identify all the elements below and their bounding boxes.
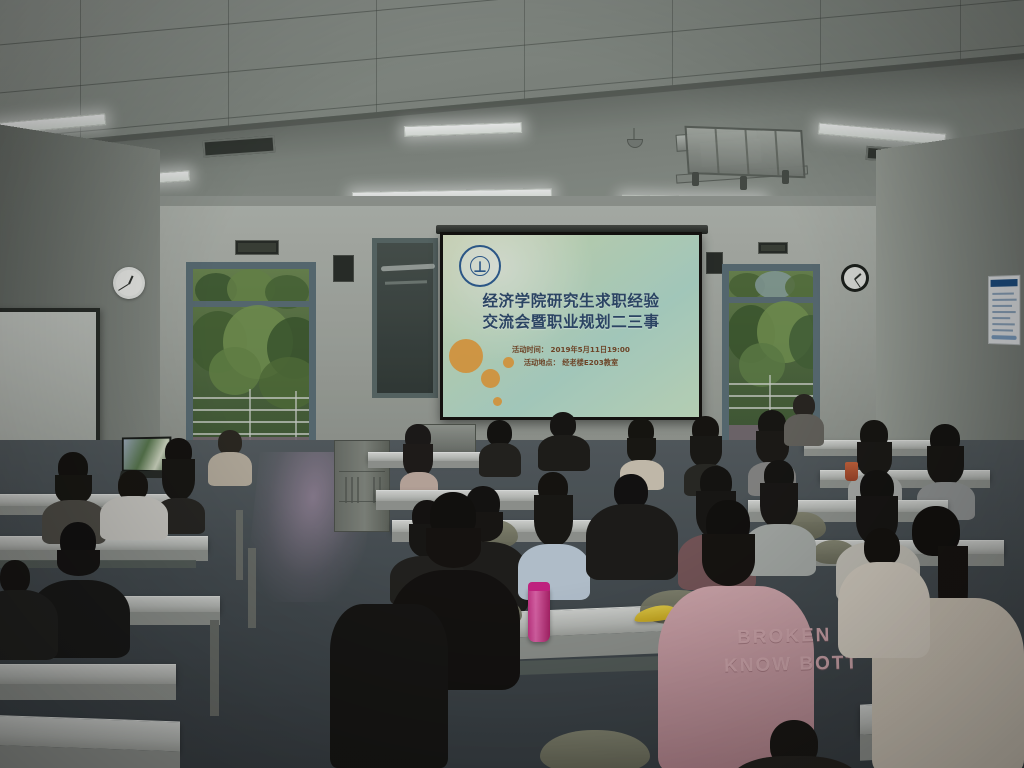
left-doorway <box>186 262 316 470</box>
emergency-exit-sign <box>235 240 279 255</box>
desk-front-left <box>0 715 180 752</box>
wall-trim <box>148 196 892 206</box>
jacket-text-line-1: BROKEN <box>737 625 832 649</box>
back-window-panel <box>372 238 438 398</box>
slide-title-line-1: 经济学院研究生求职经验 <box>443 291 699 312</box>
university-emblem-icon: ⊥ <box>459 245 501 287</box>
projector-mount-foot <box>740 176 747 190</box>
slide-meta: 活动时间： 2019年5月11日19:00 活动地点： 经老楼E203教室 <box>443 343 699 369</box>
classroom-scene: ⊥ 经济学院研究生求职经验 交流会暨职业规划二三事 活动时间： 2019年5月1… <box>0 0 1024 768</box>
projected-slide: ⊥ 经济学院研究生求职经验 交流会暨职业规划二三事 活动时间： 2019年5月1… <box>443 235 699 417</box>
slide-title-line-2: 交流会暨职业规划二三事 <box>443 312 699 333</box>
projector-mount-foot <box>782 170 789 184</box>
decor-circle <box>481 369 500 388</box>
desk-left-row-4 <box>0 664 176 684</box>
wall-clock-white <box>113 267 145 299</box>
pink-water-bottle <box>528 587 550 642</box>
desk-leg <box>248 548 256 628</box>
notice-poster <box>988 275 1020 346</box>
emergency-exit-sign <box>758 242 788 254</box>
wall-speaker <box>706 252 723 274</box>
slide-title: 经济学院研究生求职经验 交流会暨职业规划二三事 <box>443 291 699 333</box>
projector-mount-foot <box>692 172 699 186</box>
decor-circle <box>493 397 502 406</box>
bottle-cap <box>528 582 550 591</box>
slide-meta-time: 活动时间： 2019年5月11日19:00 <box>443 343 699 356</box>
wall-speaker <box>333 255 354 282</box>
whiteboard <box>0 308 100 448</box>
desk-leg <box>210 620 219 716</box>
wall-clock-black <box>841 264 869 292</box>
drink-cup <box>845 462 858 481</box>
doorway-view <box>193 269 309 463</box>
projection-screen: ⊥ 经济学院研究生求职经验 交流会暨职业规划二三事 活动时间： 2019年5月1… <box>440 232 702 420</box>
slide-meta-place: 活动地点： 经老楼E203教室 <box>443 356 699 369</box>
emblem-glyph: ⊥ <box>473 258 487 276</box>
jacket-text-line-2: KNOW BOTT <box>724 652 860 678</box>
desk-leg <box>236 510 243 580</box>
